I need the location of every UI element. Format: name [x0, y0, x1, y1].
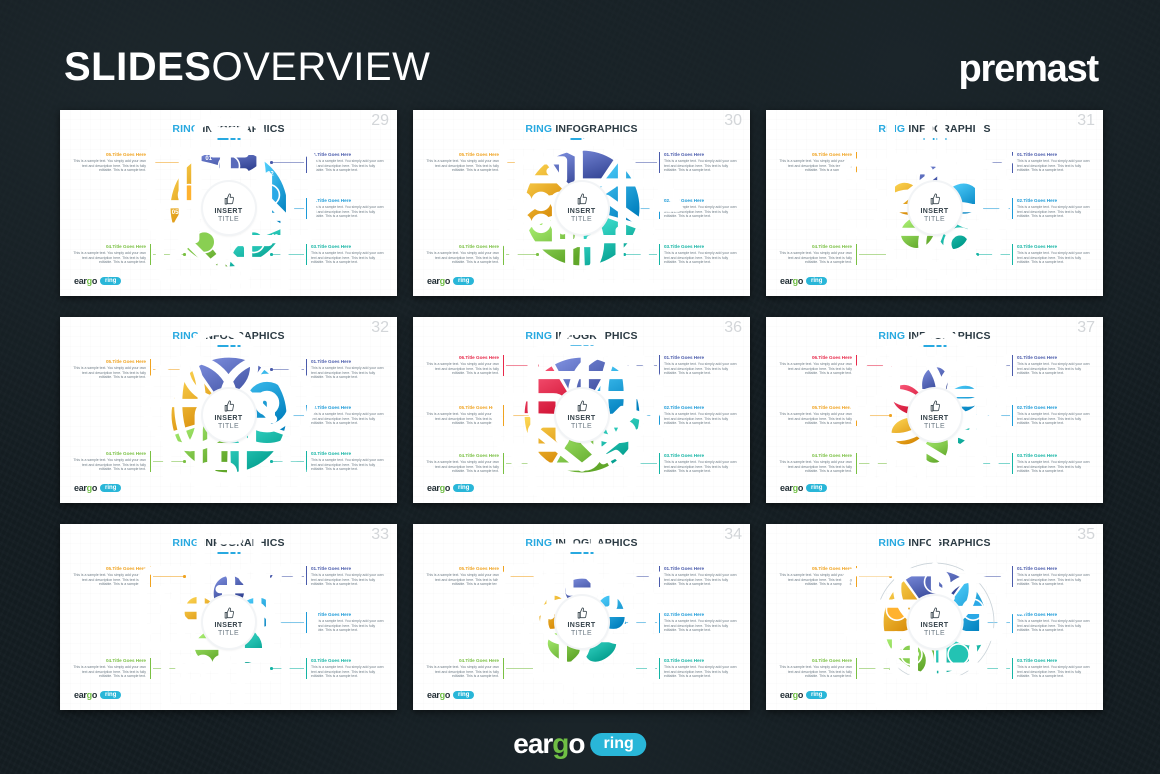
- page-title: SLIDESOVERVIEW: [64, 45, 430, 90]
- ring-infographic-figure[interactable]: INSERT TITLE: [872, 352, 998, 478]
- slide-canvas: 34 RING INFOGRAPHICS 01.Title Goes Here …: [413, 524, 750, 710]
- eargo-ring-slide-logo: eargo ring: [74, 276, 121, 286]
- footer-logo-wordmark: eargo: [513, 728, 584, 760]
- hub-line-2: TITLE: [571, 216, 592, 224]
- ring-infographic-figure[interactable]: INSERT TITLE: [519, 559, 645, 685]
- eargo-ring-slide-logo: eargo ring: [780, 483, 827, 493]
- slide-logo-ring-pill: ring: [806, 277, 827, 285]
- slide-logo-ring-pill: ring: [806, 484, 827, 492]
- ring-infographic-figure[interactable]: INSERT TITLE: [872, 559, 998, 685]
- slide-canvas: 33 RING INFOGRAPHICS 01.Title Goes Here …: [60, 524, 397, 710]
- premast-brand-logo: premast: [959, 48, 1098, 91]
- eargo-ring-slide-logo: eargo ring: [74, 690, 121, 700]
- thumbs-up-icon: [574, 192, 589, 207]
- slide-logo-ring-pill: ring: [453, 277, 474, 285]
- slide-thumbnail-30[interactable]: 30 RING INFOGRAPHICS 01.Title Goes Here …: [413, 110, 750, 296]
- ring-infographic-figure[interactable]: 0102030405 INSERT TITLE: [166, 145, 292, 271]
- slide-logo-wordmark: eargo: [74, 690, 97, 700]
- slide-canvas: 35 RING INFOGRAPHICS 01.Title Goes Here …: [766, 524, 1103, 710]
- slide-thumbnail-31[interactable]: 31 RING INFOGRAPHICS 01.Title Goes Here …: [766, 110, 1103, 296]
- hub-line-1: INSERT: [567, 208, 595, 216]
- center-hub[interactable]: INSERT TITLE: [556, 182, 608, 234]
- slide-logo-wordmark: eargo: [427, 690, 450, 700]
- eargo-ring-slide-logo: eargo ring: [74, 483, 121, 493]
- thumbs-up-icon: [221, 399, 236, 414]
- center-hub[interactable]: INSERT TITLE: [203, 596, 255, 648]
- center-hub[interactable]: INSERT TITLE: [203, 182, 255, 234]
- page-title-bold: SLIDES: [64, 45, 211, 89]
- hub-line-2: TITLE: [218, 216, 239, 224]
- slide-logo-wordmark: eargo: [780, 690, 803, 700]
- center-hub[interactable]: INSERT TITLE: [909, 182, 961, 234]
- slide-canvas: 29 RING INFOGRAPHICS 01.Title Goes Here …: [60, 110, 397, 296]
- thumbs-up-icon: [927, 399, 942, 414]
- hub-line-1: INSERT: [567, 622, 595, 630]
- slide-logo-wordmark: eargo: [780, 276, 803, 286]
- hub-line-2: TITLE: [924, 630, 945, 638]
- slide-canvas: 37 RING INFOGRAPHICS 01.Title Goes Here …: [766, 317, 1103, 503]
- slide-thumbnail-35[interactable]: 35 RING INFOGRAPHICS 01.Title Goes Here …: [766, 524, 1103, 710]
- slide-thumbnail-36[interactable]: 36 RING INFOGRAPHICS 01.Title Goes Here …: [413, 317, 750, 503]
- hub-line-1: INSERT: [214, 622, 242, 630]
- ring-infographic-figure[interactable]: INSERT TITLE: [166, 352, 292, 478]
- hub-line-2: TITLE: [218, 630, 239, 638]
- hub-line-2: TITLE: [218, 423, 239, 431]
- slide-canvas: 32 RING INFOGRAPHICS 01.Title Goes Here …: [60, 317, 397, 503]
- slide-canvas: 36 RING INFOGRAPHICS 01.Title Goes Here …: [413, 317, 750, 503]
- hub-line-2: TITLE: [924, 216, 945, 224]
- center-hub[interactable]: INSERT TITLE: [556, 596, 608, 648]
- ring-infographic-figure[interactable]: INSERT TITLE: [519, 352, 645, 478]
- hub-line-1: INSERT: [920, 622, 948, 630]
- hub-line-2: TITLE: [924, 423, 945, 431]
- ring-infographic-figure[interactable]: INSERT TITLE: [519, 145, 645, 271]
- slide-thumbnail-37[interactable]: 37 RING INFOGRAPHICS 01.Title Goes Here …: [766, 317, 1103, 503]
- eargo-ring-slide-logo: eargo ring: [780, 690, 827, 700]
- slide-logo-wordmark: eargo: [74, 483, 97, 493]
- slide-thumbnail-34[interactable]: 34 RING INFOGRAPHICS 01.Title Goes Here …: [413, 524, 750, 710]
- slide-logo-wordmark: eargo: [427, 276, 450, 286]
- slide-thumbnail-29[interactable]: 29 RING INFOGRAPHICS 01.Title Goes Here …: [60, 110, 397, 296]
- thumbs-up-icon: [574, 606, 589, 621]
- thumbs-up-icon: [927, 606, 942, 621]
- slide-thumbnail-32[interactable]: 32 RING INFOGRAPHICS 01.Title Goes Here …: [60, 317, 397, 503]
- slide-canvas: 31 RING INFOGRAPHICS 01.Title Goes Here …: [766, 110, 1103, 296]
- hub-line-1: INSERT: [567, 415, 595, 423]
- eargo-ring-slide-logo: eargo ring: [427, 276, 474, 286]
- slide-logo-wordmark: eargo: [780, 483, 803, 493]
- page-title-light: OVERVIEW: [211, 45, 430, 89]
- slide-canvas: 30 RING INFOGRAPHICS 01.Title Goes Here …: [413, 110, 750, 296]
- slide-logo-ring-pill: ring: [100, 277, 121, 285]
- hub-line-1: INSERT: [214, 415, 242, 423]
- hub-line-1: INSERT: [214, 208, 242, 216]
- slide-logo-wordmark: eargo: [74, 276, 97, 286]
- slide-logo-ring-pill: ring: [100, 484, 121, 492]
- center-hub[interactable]: INSERT TITLE: [909, 596, 961, 648]
- center-hub[interactable]: INSERT TITLE: [909, 389, 961, 441]
- thumbs-up-icon: [574, 399, 589, 414]
- thumbs-up-icon: [221, 192, 236, 207]
- eargo-ring-slide-logo: eargo ring: [427, 690, 474, 700]
- slide-thumbnail-33[interactable]: 33 RING INFOGRAPHICS 01.Title Goes Here …: [60, 524, 397, 710]
- center-hub[interactable]: INSERT TITLE: [556, 389, 608, 441]
- eargo-ring-slide-logo: eargo ring: [780, 276, 827, 286]
- ring-infographic-figure[interactable]: INSERT TITLE: [166, 559, 292, 685]
- slide-thumbnail-grid: 29 RING INFOGRAPHICS 01.Title Goes Here …: [60, 110, 1104, 710]
- slide-logo-ring-pill: ring: [453, 484, 474, 492]
- footer-logo-ring-pill: ring: [591, 733, 647, 756]
- slide-logo-wordmark: eargo: [427, 483, 450, 493]
- eargo-ring-slide-logo: eargo ring: [427, 483, 474, 493]
- hub-line-1: INSERT: [920, 415, 948, 423]
- page-header: SLIDESOVERVIEW premast: [0, 0, 1160, 110]
- center-hub[interactable]: INSERT TITLE: [203, 389, 255, 441]
- hub-line-1: INSERT: [920, 208, 948, 216]
- ring-infographic-figure[interactable]: INSERT TITLE: [872, 145, 998, 271]
- thumbs-up-icon: [927, 192, 942, 207]
- hub-line-2: TITLE: [571, 423, 592, 431]
- slide-logo-ring-pill: ring: [100, 691, 121, 699]
- eargo-ring-footer-logo: eargo ring: [513, 728, 646, 760]
- thumbs-up-icon: [221, 606, 236, 621]
- slide-logo-ring-pill: ring: [453, 691, 474, 699]
- slide-logo-ring-pill: ring: [806, 691, 827, 699]
- hub-line-2: TITLE: [571, 630, 592, 638]
